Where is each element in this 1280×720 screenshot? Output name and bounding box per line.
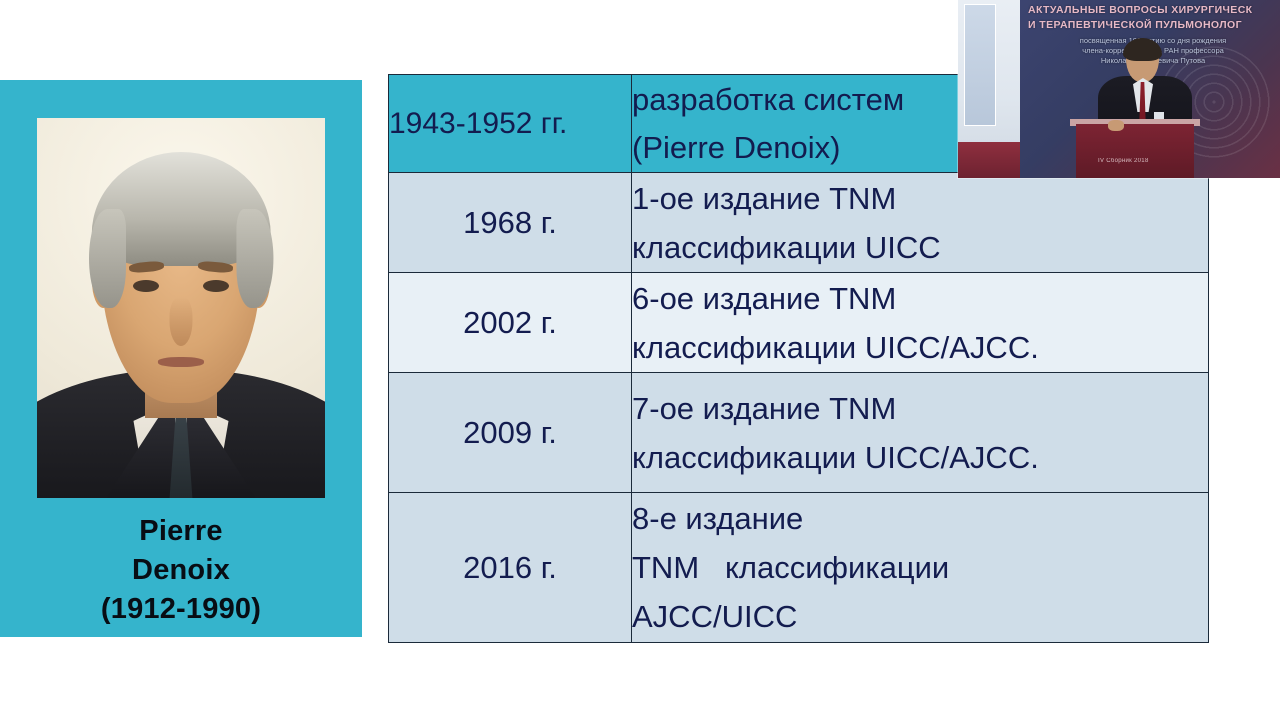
portrait-eye-right <box>203 280 229 292</box>
portrait-caption-lifespan: (1912-1990) <box>0 590 362 629</box>
speaker-hand <box>1108 120 1124 131</box>
row-detail-line: классификации UICC/AJCC. <box>632 323 1208 372</box>
row-detail-line: классификации UICC/AJCC. <box>632 433 1208 482</box>
speaker-video-overlay[interactable]: АКТУАЛЬНЫЕ ВОПРОСЫ ХИРУРГИЧЕСК И ТЕРАПЕВ… <box>958 0 1280 178</box>
portrait-panel: Pierre Denoix (1912-1990) <box>0 80 362 637</box>
banner-title-line-1: АКТУАЛЬНЫЕ ВОПРОСЫ ХИРУРГИЧЕСК <box>1028 4 1278 16</box>
row-detail-line: 6-ое издание TNM <box>632 274 1208 323</box>
row-cell-year: 2016 г. <box>389 493 632 643</box>
stage-wall-left <box>958 0 1020 178</box>
slide-canvas: Pierre Denoix (1912-1990) 1943-1952 гг. … <box>0 0 1280 720</box>
table-row: 1968 г. 1-ое издание TNM классификации U… <box>389 173 1209 273</box>
row-cell-year: 1968 г. <box>389 173 632 273</box>
table-row: 2016 г. 8-е издание TNM классификации AJ… <box>389 493 1209 643</box>
portrait-photo <box>37 118 325 498</box>
podium-label: IV Сборник 2018 <box>1098 158 1149 164</box>
row-cell-detail: 6-ое издание TNM классификации UICC/AJCC… <box>632 273 1209 373</box>
podium <box>1076 124 1194 178</box>
portrait-mouth <box>158 357 204 366</box>
table-row: 2002 г. 6-ое издание TNM классификации U… <box>389 273 1209 373</box>
portrait-eye-left <box>133 280 159 292</box>
banner-title-line-2: И ТЕРАПЕВТИЧЕСКОЙ ПУЛЬМОНОЛОГ <box>1028 19 1278 31</box>
row-detail-line: AJCC/UICC <box>632 592 1208 641</box>
row-detail-line: 7-ое издание TNM <box>632 384 1208 433</box>
row-cell-detail: 7-ое издание TNM классификации UICC/AJCC… <box>632 373 1209 493</box>
portrait-hair-side-left <box>89 209 126 308</box>
header-cell-year: 1943-1952 гг. <box>389 75 632 173</box>
row-cell-year: 2002 г. <box>389 273 632 373</box>
row-cell-detail: 1-ое издание TNM классификации UICC <box>632 173 1209 273</box>
portrait-hair-side-right <box>236 209 273 308</box>
row-cell-detail: 8-е издание TNM классификации AJCC/UICC <box>632 493 1209 643</box>
row-detail-line: 1-ое издание TNM <box>632 174 1208 223</box>
table-row: 2009 г. 7-ое издание TNM классификации U… <box>389 373 1209 493</box>
row-detail-line: классификации UICC <box>632 223 1208 272</box>
portrait-caption: Pierre Denoix (1912-1990) <box>0 512 362 629</box>
row-cell-year: 2009 г. <box>389 373 632 493</box>
portrait-caption-lastname: Denoix <box>0 551 362 590</box>
row-detail-line: TNM классификации <box>632 543 1208 592</box>
row-detail-line: 8-е издание <box>632 494 1208 543</box>
portrait-caption-firstname: Pierre <box>0 512 362 551</box>
